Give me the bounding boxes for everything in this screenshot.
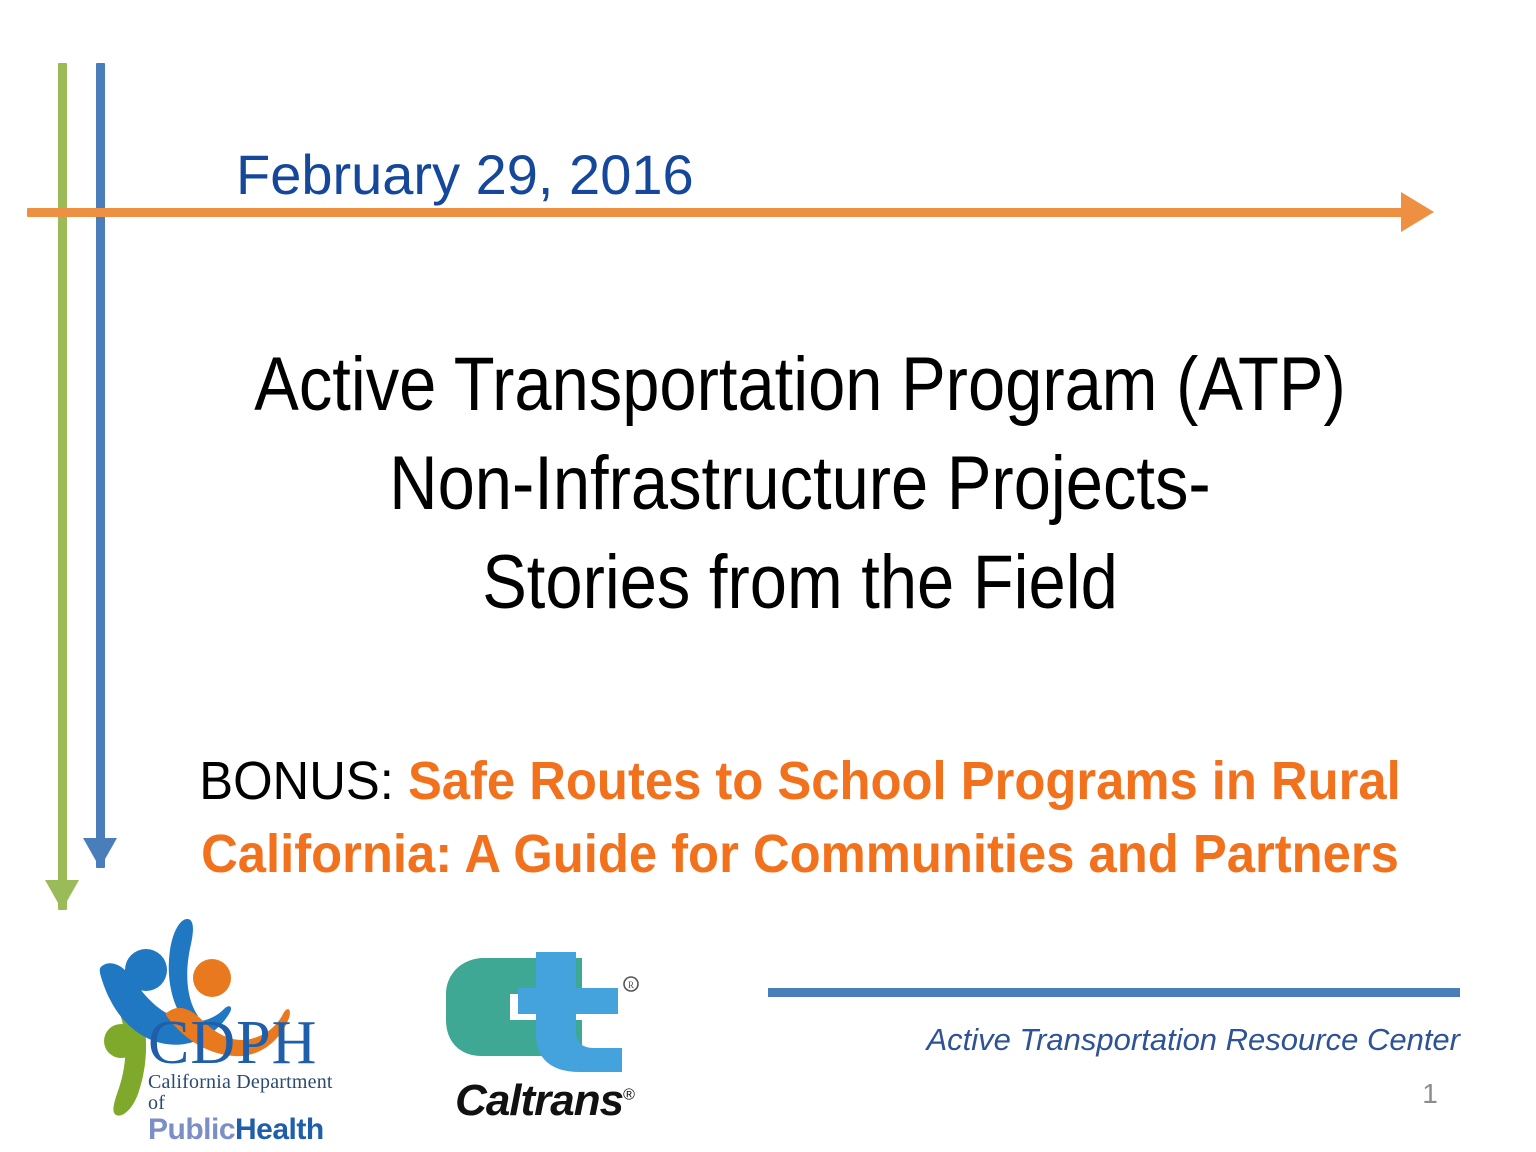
caltrans-registered-icon: ®: [623, 1086, 634, 1103]
blue-arrow-head-icon: [83, 838, 117, 868]
footer-divider: [768, 988, 1460, 997]
bonus-label: BONUS:: [199, 751, 394, 811]
blue-vertical-line: [96, 63, 105, 868]
page-title: Active Transportation Program (ATP) Non-…: [228, 336, 1372, 632]
cdph-subtitle: California Department of: [148, 1072, 343, 1114]
green-arrow-head-icon: [45, 880, 79, 910]
caltrans-ct-icon: R: [432, 948, 657, 1078]
caltrans-wordmark: Caltrans®: [432, 1076, 657, 1126]
cdph-wordmark: CDPH California Department of PublicHeal…: [148, 1016, 343, 1145]
cdph-publichealth: PublicHealth: [148, 1115, 343, 1145]
cdph-health-text: Health: [235, 1113, 324, 1146]
green-vertical-line: [58, 63, 67, 910]
orange-arrow-head-icon: [1401, 192, 1434, 232]
cdph-logo: CDPH California Department of PublicHeal…: [88, 908, 343, 1130]
title-line-1: Active Transportation Program (ATP): [228, 336, 1372, 435]
page-number: 1: [1400, 1078, 1460, 1110]
slide-date: February 29, 2016: [236, 142, 694, 207]
bonus-subtitle: BONUS: Safe Routes to School Programs in…: [170, 745, 1430, 892]
cdph-acronym: CDPH: [148, 1016, 343, 1071]
cdph-public-text: Public: [148, 1113, 235, 1146]
orange-horizontal-line: [27, 208, 1412, 217]
footer-organization: Active Transportation Resource Center: [768, 1022, 1460, 1058]
caltrans-logo: R Caltrans®: [432, 948, 657, 1130]
slide-canvas: February 29, 2016 Active Transportation …: [0, 0, 1536, 1152]
title-line-2: Non-Infrastructure Projects-: [228, 435, 1372, 534]
svg-text:R: R: [628, 980, 634, 990]
title-line-3: Stories from the Field: [228, 534, 1372, 633]
caltrans-wordmark-text: Caltrans: [455, 1076, 623, 1125]
